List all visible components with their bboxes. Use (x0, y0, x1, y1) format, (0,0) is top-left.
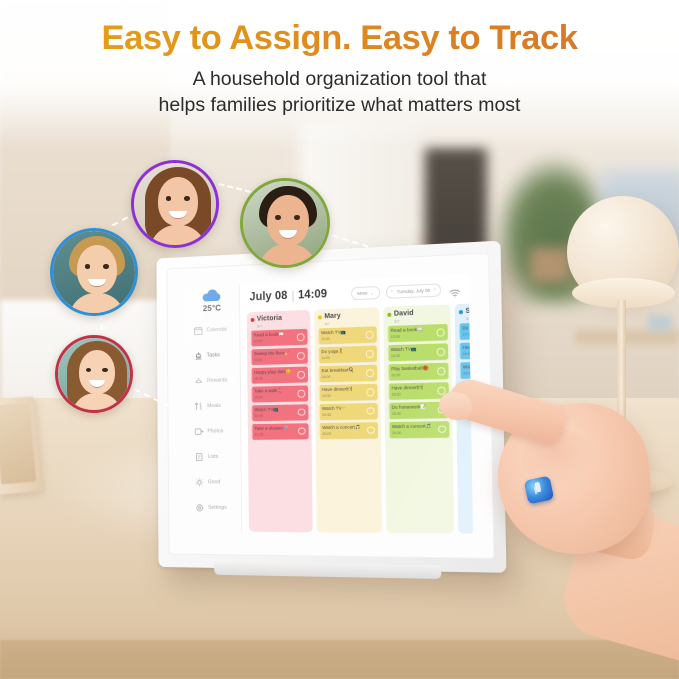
task-checkbox[interactable] (437, 348, 445, 356)
device-frame: 25°C Calendar (156, 241, 506, 573)
task-card-accent (318, 347, 319, 363)
app-main: July 08 14:09 More ⌄ ‹ Tuesday, July 08 (240, 274, 473, 534)
task-checkbox[interactable] (437, 367, 445, 375)
avatar-eye-right (103, 264, 109, 268)
task-checkbox[interactable] (297, 371, 304, 379)
task-card[interactable]: Watch a concert🎵20:30 (388, 421, 449, 439)
page-title: Easy to Assign. Easy to Track (0, 20, 679, 56)
sidebar-item-rewards[interactable]: Rewards (186, 367, 240, 394)
selected-date-label: Tuesday, July 08 (397, 287, 430, 293)
task-card[interactable]: Read a book📖13:00 (387, 324, 447, 343)
task-card[interactable]: Happy play date😊16:30 (251, 366, 308, 384)
task-card-accent (388, 403, 389, 420)
task-card-accent (251, 424, 252, 440)
task-board[interactable]: Victoria5/7Read a book📖10:00Sweep the fl… (240, 303, 473, 534)
sidebar-label-photos: Photos (207, 428, 223, 434)
avatar-neck-shoulders (259, 244, 317, 268)
task-checkbox[interactable] (297, 333, 304, 341)
avatar-photo (53, 231, 135, 313)
task-time: 19:00 (463, 351, 473, 357)
page-subtitle: A household organization tool that helps… (0, 67, 679, 118)
task-card-accent (251, 405, 252, 421)
desk-lamp-stem (617, 300, 626, 480)
app-sidebar[interactable]: 25°C Calendar (185, 284, 242, 531)
task-card-accent (388, 383, 389, 400)
sidebar-label-settings: Settings (208, 505, 227, 511)
avatar-eye-left (85, 264, 91, 268)
sidebar-item-photos[interactable]: Photos (186, 418, 240, 444)
task-card[interactable]: Watch TV📺20:00 (251, 404, 308, 421)
member-color-dot (458, 310, 462, 314)
photos-icon (194, 427, 203, 437)
meals-icon (194, 401, 203, 411)
task-checkbox[interactable] (297, 352, 304, 360)
settings-icon (195, 503, 204, 513)
task-card[interactable]: Watch TV📺10:00 (318, 326, 377, 344)
member-name: Mary (324, 313, 341, 321)
avatar-photo (134, 163, 216, 245)
sidebar-item-brightness[interactable]: Good (186, 469, 241, 495)
task-card-list: Read a book📖13:00Watch TV📺14:30Play bask… (387, 324, 449, 439)
task-card[interactable]: Have dinner🍽19:00 (459, 341, 473, 360)
member-color-dot (250, 317, 254, 321)
task-card[interactable]: Have dinner🍽19:00 (318, 384, 377, 402)
task-title: Do yoga🧘 (462, 325, 473, 332)
task-checkbox[interactable] (298, 427, 305, 435)
sidebar-label-lists: Lists (208, 454, 219, 460)
task-card[interactable]: Do yoga🧘17:00 (459, 321, 473, 340)
task-card[interactable]: Do yoga🧘11:00 (318, 345, 377, 363)
avatar-mom (131, 160, 219, 248)
task-checkbox[interactable] (436, 329, 444, 337)
task-checkbox[interactable] (438, 425, 446, 433)
task-column[interactable]: Selina3/7Do yoga🧘17:00Have dinner🍽19:00W… (455, 303, 473, 534)
task-column-header: Selina (458, 306, 473, 316)
background-book (648, 315, 672, 331)
task-card-accent (250, 349, 251, 365)
task-card[interactable]: Have dinner🍽18:30 (388, 382, 449, 400)
task-card-accent (459, 382, 461, 399)
task-checkbox[interactable] (437, 387, 445, 395)
task-card-accent (251, 368, 252, 384)
task-title: Watch TV📺 (463, 364, 473, 371)
sidebar-item-tasks[interactable]: Tasks (185, 342, 239, 369)
rewards-icon (194, 376, 203, 386)
task-card-accent (318, 385, 319, 401)
task-title: Read a book📖 (463, 384, 473, 390)
lists-icon (195, 452, 204, 462)
sidebar-label-tasks: Tasks (207, 352, 220, 358)
task-checkbox[interactable] (366, 388, 374, 396)
task-card-accent (459, 323, 461, 340)
task-card-list: Do yoga🧘17:00Have dinner🍽19:00Watch TV📺2… (459, 321, 473, 398)
task-card[interactable]: Watch TV⋯19:30 (319, 403, 378, 421)
avatar-eye-right (184, 196, 190, 200)
task-card-accent (388, 422, 389, 439)
task-card[interactable]: Read a book📖21:00 (459, 380, 473, 398)
task-checkbox[interactable] (366, 350, 374, 358)
task-completion-count: 3/7 (466, 314, 473, 321)
task-card-accent (387, 326, 388, 343)
subtitle-line-1: A household organization tool that (0, 67, 679, 93)
sidebar-item-meals[interactable]: Meals (186, 393, 240, 419)
task-checkbox[interactable] (297, 390, 304, 398)
task-card-accent (459, 343, 461, 360)
task-card[interactable]: Read a book📖10:00 (250, 329, 307, 347)
desk-lamp-base (578, 468, 674, 494)
avatar-dad (240, 178, 330, 268)
task-card-accent (388, 364, 389, 381)
device-bezel: 25°C Calendar (166, 252, 494, 559)
brightness-icon (195, 477, 204, 487)
task-card-accent (318, 328, 319, 344)
calendar-icon (194, 326, 203, 336)
topbar-spacer (333, 294, 345, 295)
weather-widget[interactable]: 25°C (203, 289, 222, 313)
picture-frame-inner (0, 403, 36, 485)
task-checkbox[interactable] (366, 369, 374, 377)
background-plant-pot (530, 248, 570, 282)
sidebar-item-lists[interactable]: Lists (186, 444, 241, 470)
task-card-accent (459, 362, 461, 379)
task-card[interactable]: Watch TV📺20:00 (459, 361, 473, 380)
task-column[interactable]: Mary4/7Watch TV📺10:00Do yoga🧘11:00Eat br… (314, 307, 382, 533)
member-name: David (394, 310, 414, 318)
task-card-list: Read a book📖10:00Sweep the floor🧹11:00Ha… (250, 329, 308, 440)
task-card-accent (387, 345, 388, 362)
task-column[interactable]: Victoria5/7Read a book📖10:00Sweep the fl… (247, 310, 313, 532)
task-title: Have dinner🍽 (463, 344, 473, 351)
member-name: Selina (466, 307, 473, 315)
desk-front-edge (0, 640, 679, 679)
task-card[interactable]: Sweep the floor🧹11:00 (250, 348, 307, 366)
task-completion-count: 5/7 (257, 322, 307, 329)
task-card[interactable]: Play basketball🏀16:30 (388, 363, 448, 381)
task-card[interactable]: Take a shower🚿21:00 (251, 423, 308, 440)
task-checkbox[interactable] (367, 407, 375, 415)
task-checkbox[interactable] (366, 331, 374, 339)
tasks-icon (194, 351, 203, 361)
wifi-icon[interactable] (449, 284, 461, 294)
task-card-accent (319, 423, 320, 439)
date-navigator[interactable]: ‹ Tuesday, July 08 › (386, 283, 441, 298)
avatar-neck-shoulders (69, 293, 125, 316)
sidebar-item-calendar[interactable]: Calendar (185, 317, 239, 344)
task-checkbox[interactable] (438, 406, 446, 414)
task-completion-count: 4/7 (324, 319, 376, 326)
avatar-eye-left (86, 368, 91, 372)
task-card-accent (319, 404, 320, 420)
task-card[interactable]: Take a walk🚶19:00 (251, 385, 308, 402)
task-card[interactable]: Watch TV📺14:30 (387, 343, 447, 361)
member-color-dot (317, 315, 321, 319)
sidebar-label-calendar: Calendar (207, 327, 228, 334)
chevron-down-icon: ⌄ (371, 290, 374, 295)
task-checkbox[interactable] (367, 426, 375, 434)
task-card[interactable]: Do homework📝19:30 (388, 401, 449, 419)
sidebar-label-brightness: Good (208, 479, 221, 485)
avatar-photo (243, 181, 327, 265)
background-shelf (575, 330, 679, 344)
member-color-dot (387, 312, 391, 316)
more-dropdown[interactable]: More ⌄ (351, 286, 380, 300)
hero-heading-block: Easy to Assign. Easy to Track A househol… (0, 0, 679, 119)
temperature-label: 25°C (203, 303, 222, 313)
more-label: More (357, 290, 367, 295)
current-date: July 08 (249, 290, 287, 303)
task-checkbox[interactable] (298, 409, 305, 417)
task-time: 17:00 (462, 331, 473, 337)
avatar-eye-left (275, 215, 281, 220)
prev-day-button[interactable]: ‹ (391, 288, 393, 294)
member-name: Victoria (257, 315, 282, 323)
cloud-icon (203, 289, 221, 301)
next-day-button[interactable]: › (434, 287, 436, 293)
device-screen[interactable]: 25°C Calendar (185, 274, 473, 534)
current-time: 14:09 (298, 288, 327, 301)
sidebar-label-meals: Meals (207, 403, 221, 409)
task-time: 20:00 (463, 371, 473, 376)
subtitle-line-2: helps families prioritize what matters m… (0, 93, 679, 119)
avatar-son (50, 228, 138, 316)
family-calendar-device[interactable]: 25°C Calendar (156, 241, 506, 573)
task-card-accent (250, 331, 251, 347)
avatar-eye-left (166, 196, 172, 200)
avatar-photo (58, 338, 130, 410)
avatar-eye-right (102, 368, 107, 372)
task-column[interactable]: David3/7Read a book📖13:00Watch TV📺14:30P… (383, 304, 454, 533)
task-card[interactable]: Eat breakfast🍳18:00 (318, 365, 377, 383)
date-time-divider (292, 290, 293, 301)
sidebar-item-settings[interactable]: Settings (187, 495, 242, 521)
date-time-display: July 08 14:09 (249, 288, 327, 303)
task-completion-count: 3/7 (394, 317, 447, 324)
avatar-daughter (55, 335, 133, 413)
task-time: 21:00 (463, 390, 473, 395)
task-card-accent (318, 366, 319, 382)
task-card-list: Watch TV📺10:00Do yoga🧘11:00Eat breakfast… (318, 326, 378, 439)
sidebar-label-rewards: Rewards (207, 377, 227, 383)
task-card[interactable]: Watch a concert🎵20:00 (319, 422, 378, 439)
avatar-eye-right (294, 215, 300, 220)
task-card-accent (251, 386, 252, 402)
